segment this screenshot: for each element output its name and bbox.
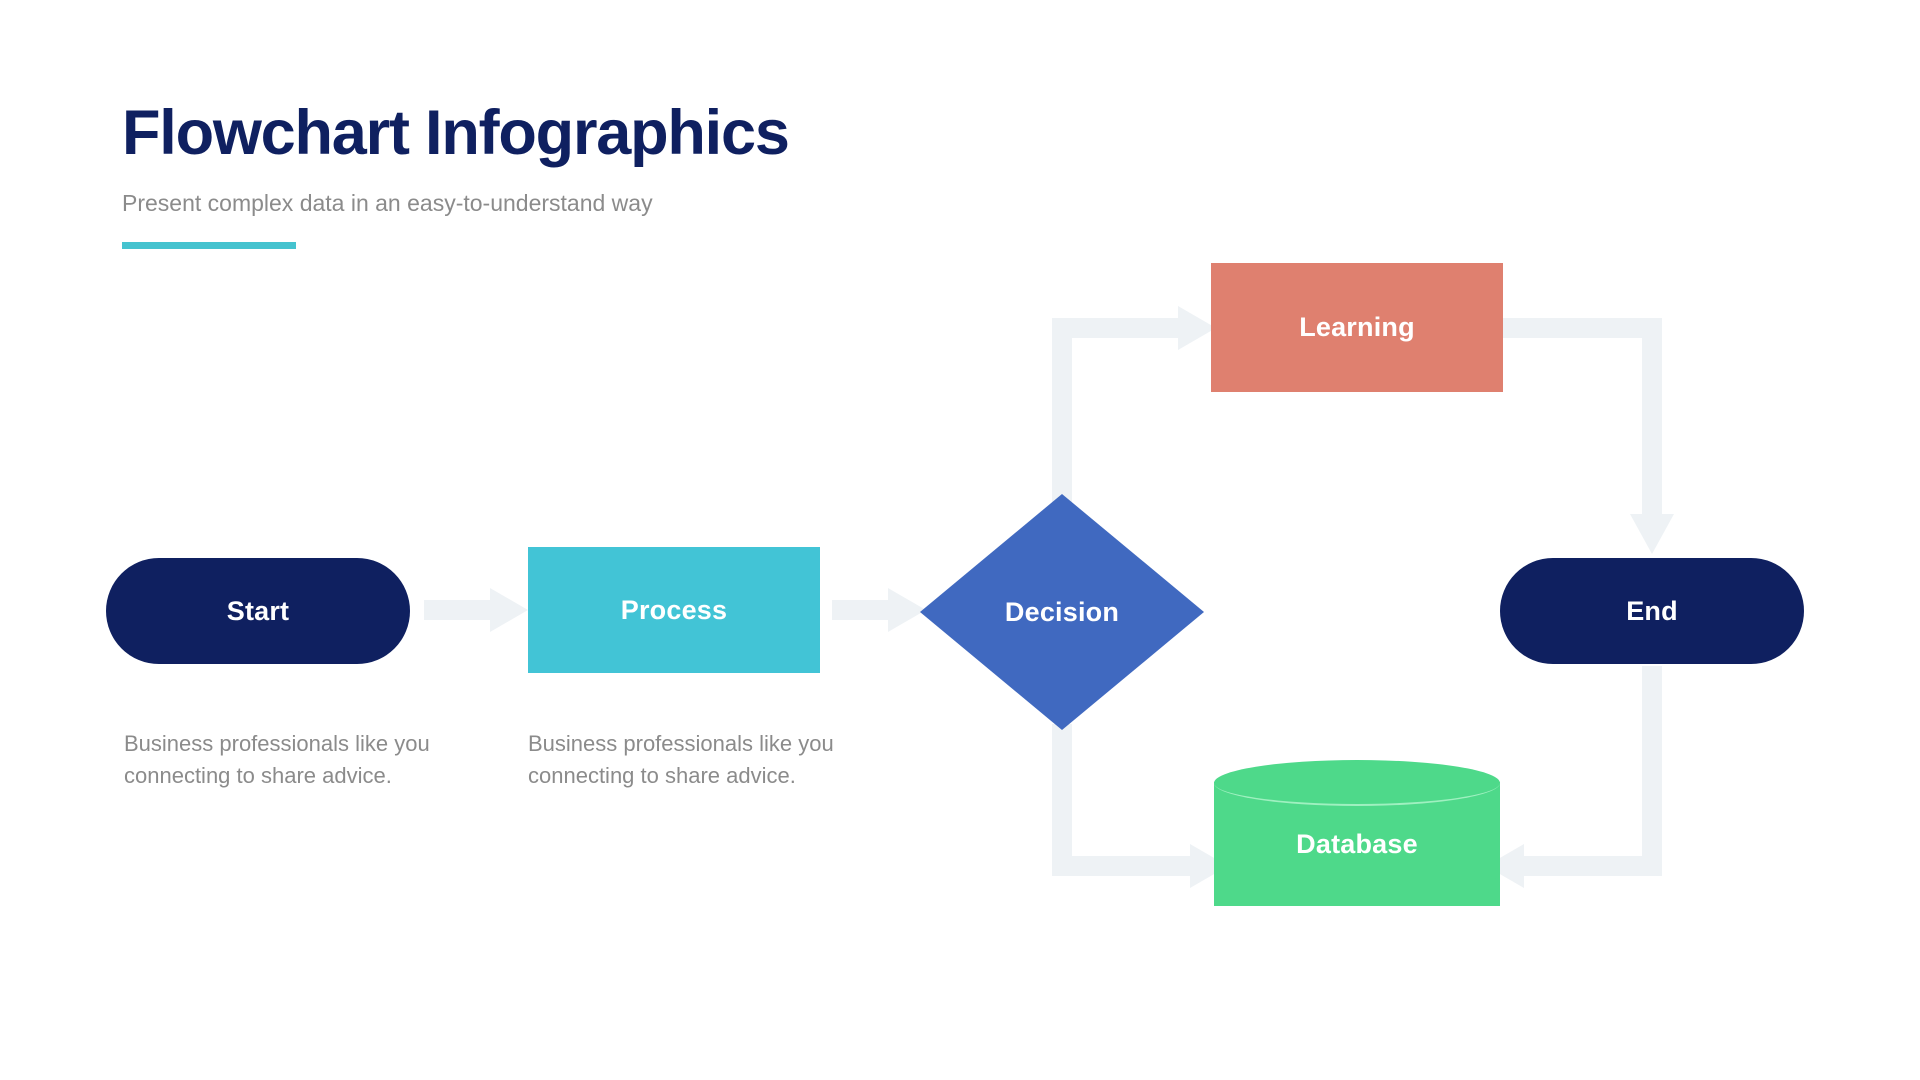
flow-node-decision-label: Decision — [1005, 597, 1119, 628]
flow-node-end[interactable]: End — [1500, 558, 1804, 664]
flowchart-diagram: Start Process Decision Learning End Data… — [0, 0, 1920, 1080]
connector-decision-to-learning — [1052, 306, 1216, 506]
flow-node-learning-label: Learning — [1299, 312, 1415, 343]
flow-node-decision[interactable]: Decision — [920, 494, 1204, 730]
flow-node-start-label: Start — [227, 596, 290, 627]
flow-node-database[interactable]: Database — [1214, 760, 1500, 928]
description-start: Business professionals like you connecti… — [124, 728, 434, 791]
flow-node-process[interactable]: Process — [528, 547, 820, 673]
flow-node-process-label: Process — [621, 595, 727, 626]
slide-canvas: Flowchart Infographics Present complex d… — [0, 0, 1920, 1080]
flow-node-start[interactable]: Start — [106, 558, 410, 664]
description-process: Business professionals like you connecti… — [528, 728, 838, 791]
flow-node-database-label: Database — [1214, 760, 1500, 928]
flow-node-learning[interactable]: Learning — [1211, 263, 1503, 392]
flow-node-end-label: End — [1626, 596, 1678, 627]
connector-learning-to-end — [1500, 318, 1674, 554]
connector-start-to-process — [424, 588, 528, 632]
connector-process-to-decision — [832, 588, 926, 632]
connector-decision-to-database — [1052, 724, 1228, 888]
connector-end-to-database — [1486, 666, 1662, 888]
